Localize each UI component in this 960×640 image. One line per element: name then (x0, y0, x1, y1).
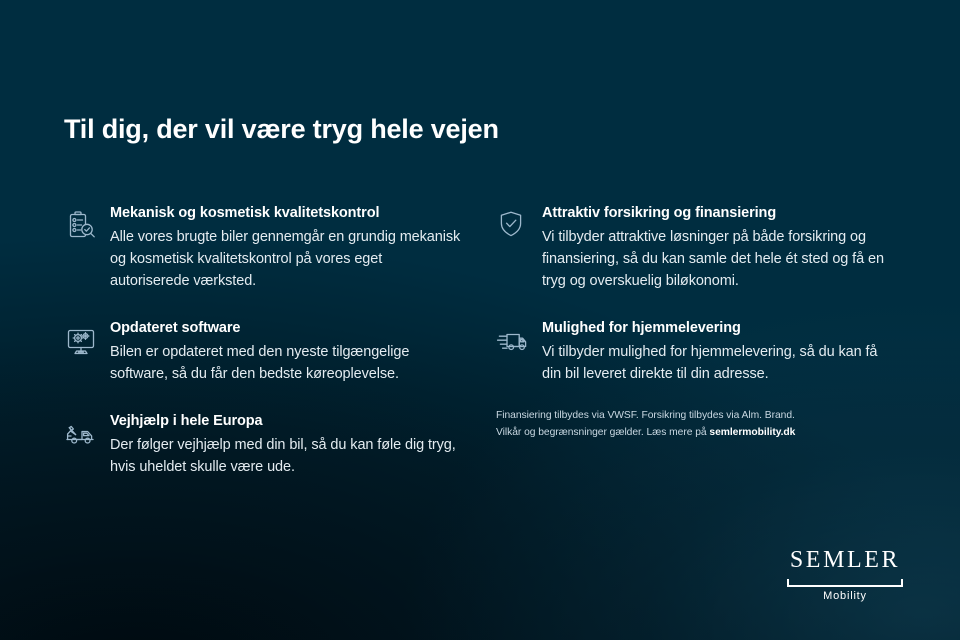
feature-text: Mekanisk og kosmetisk kvalitetskontrol A… (110, 205, 464, 292)
feature-text: Opdateret software Bilen er opdateret me… (110, 320, 464, 385)
feature-home-delivery: Mulighed for hjemmelevering Vi tilbyder … (496, 320, 896, 385)
feature-updated-software: Opdateret software Bilen er opdateret me… (64, 320, 464, 385)
feature-text: Vejhjælp i hele Europa Der følger vejhjæ… (110, 413, 464, 478)
features-column-left: Mekanisk og kosmetisk kvalitetskontrol A… (64, 205, 464, 478)
disclaimer-line-2-prefix: Vilkår og begrænsninger gælder. Læs mere… (496, 427, 709, 438)
promo-page: Til dig, der vil være tryg hele vejen Me… (0, 0, 960, 640)
logo-subtitle: Mobility (786, 590, 904, 602)
clipboard-magnifier-icon (64, 205, 110, 243)
semler-mobility-logo: SEMLER Mobility (786, 548, 904, 602)
feature-description: Bilen er opdateret med den nyeste tilgæn… (110, 341, 464, 385)
feature-title: Mulighed for hjemmelevering (542, 320, 896, 336)
feature-insurance-financing: Attraktiv forsikring og finansiering Vi … (496, 205, 896, 292)
page-title: Til dig, der vil være tryg hele vejen (64, 114, 499, 145)
feature-title: Opdateret software (110, 320, 464, 336)
tow-truck-icon (64, 413, 110, 451)
feature-text: Attraktiv forsikring og finansiering Vi … (542, 205, 896, 292)
feature-quality-control: Mekanisk og kosmetisk kvalitetskontrol A… (64, 205, 464, 292)
shield-check-icon (496, 205, 542, 239)
feature-title: Mekanisk og kosmetisk kvalitetskontrol (110, 205, 464, 221)
delivery-truck-icon (496, 320, 542, 358)
logo-bracket-divider (787, 578, 903, 587)
disclaimer-line-2: Vilkår og begrænsninger gælder. Læs mere… (496, 425, 896, 442)
disclaimer-text: Finansiering tilbydes via VWSF. Forsikri… (496, 408, 896, 441)
feature-text: Mulighed for hjemmelevering Vi tilbyder … (542, 320, 896, 385)
disclaimer-line-1: Finansiering tilbydes via VWSF. Forsikri… (496, 408, 896, 425)
logo-wordmark: SEMLER (786, 548, 904, 572)
feature-description: Der følger vejhjælp med din bil, så du k… (110, 434, 464, 478)
feature-title: Attraktiv forsikring og finansiering (542, 205, 896, 221)
monitor-gears-icon (64, 320, 110, 358)
features-column-right: Attraktiv forsikring og finansiering Vi … (496, 205, 896, 385)
semlermobility-link[interactable]: semlermobility.dk (709, 427, 795, 438)
feature-title: Vejhjælp i hele Europa (110, 413, 464, 429)
feature-roadside-assistance: Vejhjælp i hele Europa Der følger vejhjæ… (64, 413, 464, 478)
feature-description: Vi tilbyder attraktive løsninger på både… (542, 226, 896, 292)
feature-description: Vi tilbyder mulighed for hjemmelevering,… (542, 341, 896, 385)
feature-description: Alle vores brugte biler gennemgår en gru… (110, 226, 464, 292)
